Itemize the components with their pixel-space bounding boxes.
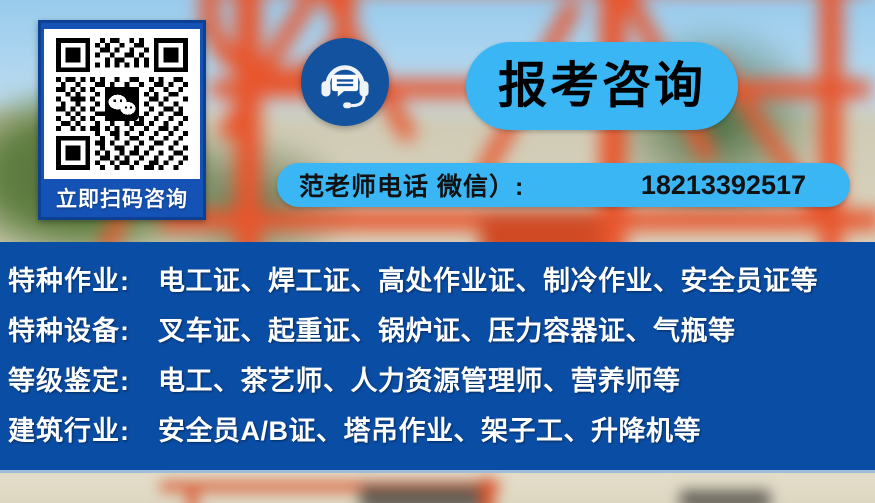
info-panel: 特种作业: 电工证、焊工证、高处作业证、制冷作业、安全员证等 特种设备: 叉车证… (0, 242, 875, 470)
info-row-label: 特种设备: (8, 306, 158, 356)
headset-chat-icon (316, 53, 374, 111)
qr-card-caption: 立即扫码咨询 (56, 179, 188, 217)
poster-root: 立即扫码咨询 报考咨询 范老师电话 微信）: 18213392517 特种作业: (0, 0, 875, 503)
info-row: 建筑行业: 安全员A/B证、塔吊作业、架子工、升降机等 (8, 406, 875, 456)
strip-top-highlight (0, 470, 875, 473)
strip-dark-object-2 (680, 490, 770, 503)
strip-rail-vertical-2 (480, 478, 494, 503)
info-row-value: 叉车证、起重证、锅炉证、压力容器证、气瓶等 (158, 306, 736, 356)
info-row-label: 等级鉴定: (8, 356, 158, 406)
info-row-value: 电工、茶艺师、人力资源管理师、营养师等 (158, 356, 681, 406)
info-row-label: 建筑行业: (8, 406, 158, 456)
info-row-label: 特种作业: (8, 256, 158, 306)
title-pill-text: 报考咨询 (498, 62, 706, 111)
wechat-logo-icon (105, 87, 139, 121)
info-row: 等级鉴定: 电工、茶艺师、人力资源管理师、营养师等 (8, 356, 875, 406)
info-row-value: 安全员A/B证、塔吊作业、架子工、升降机等 (158, 406, 701, 456)
info-row: 特种作业: 电工证、焊工证、高处作业证、制冷作业、安全员证等 (8, 256, 875, 306)
bottom-photo-strip (0, 470, 875, 503)
qr-card[interactable]: 立即扫码咨询 (38, 20, 206, 220)
bottom-strip-blur (0, 470, 875, 503)
info-row: 特种设备: 叉车证、起重证、锅炉证、压力容器证、气瓶等 (8, 306, 875, 356)
info-row-value: 电工证、焊工证、高处作业证、制冷作业、安全员证等 (158, 256, 818, 306)
phone-pill[interactable]: 范老师电话 微信）: 18213392517 (277, 163, 850, 207)
strip-rail-vertical-1 (188, 482, 197, 503)
qr-code-svg (51, 33, 193, 175)
phone-number[interactable]: 18213392517 (641, 170, 828, 201)
headset-badge[interactable] (301, 38, 389, 126)
phone-pill-label: 范老师电话 微信）: (299, 167, 524, 203)
qr-code-image[interactable] (44, 29, 200, 179)
title-pill[interactable]: 报考咨询 (466, 42, 738, 130)
strip-dark-object (360, 486, 480, 503)
